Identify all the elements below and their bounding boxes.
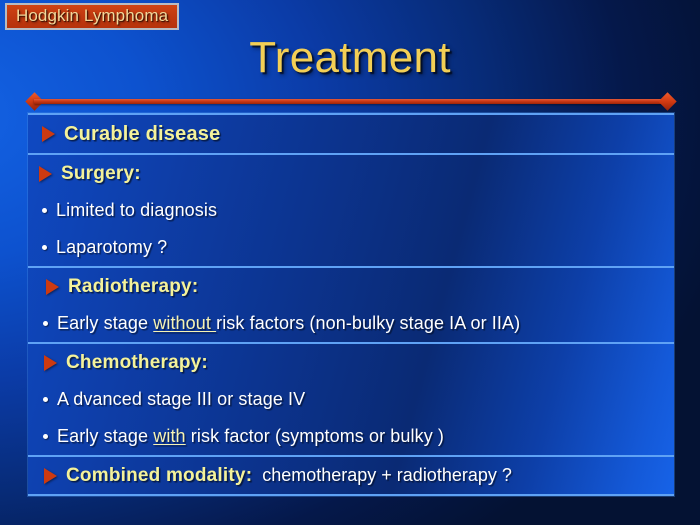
content-row: Radiotherapy: Early stage without risk f… xyxy=(28,268,674,344)
slide-canvas: Hodgkin Lymphoma Treatment Curable disea… xyxy=(0,0,700,525)
triangle-bullet-icon xyxy=(44,355,57,371)
round-bullet-icon xyxy=(43,434,48,439)
list-item-emphasis: with xyxy=(153,426,185,446)
list-item-emphasis: without xyxy=(153,313,216,333)
list-item: Early stage without risk factors (non-bu… xyxy=(34,305,668,342)
triangle-bullet-icon xyxy=(46,279,59,295)
section-heading-label: Surgery: xyxy=(61,163,141,185)
section-heading-label: Radiotherapy: xyxy=(68,276,198,298)
list-item: Limited to diagnosis xyxy=(34,192,668,229)
list-item-text: Laparotomy ? xyxy=(56,237,167,258)
content-panel: Curable disease Surgery: Limited to diag… xyxy=(28,113,674,496)
list-item-prefix: Early stage xyxy=(57,313,153,333)
triangle-bullet-icon xyxy=(39,166,52,182)
list-item: A dvanced stage III or stage IV xyxy=(34,381,668,418)
round-bullet-icon xyxy=(43,397,48,402)
content-row: Surgery: Limited to diagnosis Laparotomy… xyxy=(28,155,674,268)
round-bullet-icon xyxy=(43,321,48,326)
content-row: Chemotherapy: A dvanced stage III or sta… xyxy=(28,344,674,457)
section-heading-row: Curable disease xyxy=(34,115,668,153)
section-heading-trailing-text: chemotherapy + radiotherapy ? xyxy=(262,465,512,486)
content-row: Curable disease xyxy=(28,115,674,155)
list-item: Early stage with risk factor (symptoms o… xyxy=(34,418,668,455)
list-item-prefix: Early stage xyxy=(57,426,153,446)
title-divider xyxy=(28,95,674,107)
section-heading-label: Curable disease xyxy=(64,123,220,146)
list-item-text: Early stage without risk factors (non-bu… xyxy=(57,313,520,334)
triangle-bullet-icon xyxy=(42,126,55,142)
divider-bar xyxy=(34,99,668,104)
section-heading-row: Surgery: xyxy=(34,155,668,192)
section-heading-row: Chemotherapy: xyxy=(34,344,668,381)
diamond-right-icon xyxy=(658,92,676,110)
round-bullet-icon xyxy=(42,245,47,250)
list-item-suffix: risk factor (symptoms or bulky ) xyxy=(186,426,444,446)
content-row: Combined modality: chemotherapy + radiot… xyxy=(28,457,674,496)
section-heading-label: Chemotherapy: xyxy=(66,352,208,374)
triangle-bullet-icon xyxy=(44,468,57,484)
topic-banner: Hodgkin Lymphoma xyxy=(5,3,179,30)
list-item-suffix: risk factors (non-bulky stage IA or IIA) xyxy=(216,313,520,333)
list-item: Laparotomy ? xyxy=(34,229,668,266)
section-heading-label: Combined modality: xyxy=(66,465,252,487)
slide-title: Treatment xyxy=(0,36,700,80)
list-item-text: Limited to diagnosis xyxy=(56,200,217,221)
section-heading-row: Radiotherapy: xyxy=(34,268,668,305)
topic-banner-label: Hodgkin Lymphoma xyxy=(16,6,168,25)
section-heading-row: Combined modality: chemotherapy + radiot… xyxy=(34,457,668,494)
list-item-text: A dvanced stage III or stage IV xyxy=(57,389,305,410)
round-bullet-icon xyxy=(42,208,47,213)
list-item-text: Early stage with risk factor (symptoms o… xyxy=(57,426,444,447)
